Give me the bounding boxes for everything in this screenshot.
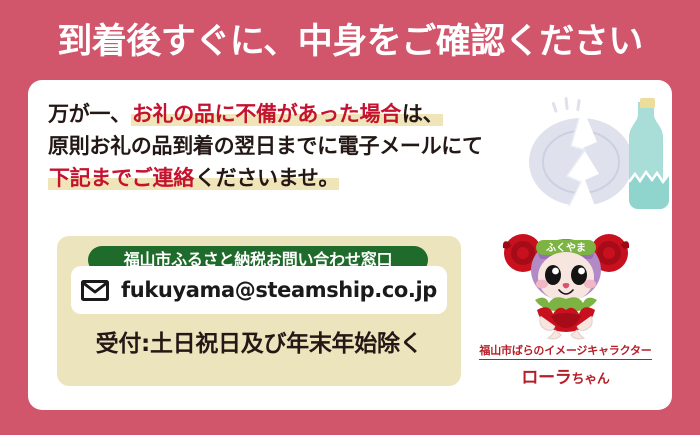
mascot-name-main: ローラ (521, 368, 571, 388)
notice-line-3: 下記までご連絡くださいませ。 (48, 162, 518, 194)
contact-email[interactable]: fukuyama@steamship.co.jp (121, 278, 437, 302)
contact-box: 福山市ふるさと納税お問い合わせ窓口 fukuyama@steamship.co.… (57, 236, 461, 386)
email-panel[interactable]: fukuyama@steamship.co.jp (71, 266, 447, 314)
mascot-caption-title: 福山市ばらのイメージキャラクター (473, 342, 658, 358)
notice-line-1-highlight: お礼の品に不備があった場合 (131, 102, 402, 126)
mascot-name-suffix: ちゃん (572, 372, 610, 387)
rola-chan-mascot-icon: ふくやま (501, 220, 631, 342)
notice-banner: 到着後すぐに、中身をご確認ください 万が一、お礼の品に不備があった場合は、 原則… (0, 0, 700, 435)
reception-hours: 受付:土日祝日及び年末年始除く (57, 324, 461, 358)
notice-line-1-suffix: は、 (402, 102, 443, 126)
notice-line-1-prefix: 万が一、 (48, 102, 131, 126)
mascot-name: ローラちゃん (473, 363, 658, 388)
cracked-plate-icon (529, 118, 633, 206)
notice-text-block: 万が一、お礼の品に不備があった場合は、 原則お礼の品到着の翌日までに電子メールに… (48, 98, 518, 194)
notice-line-1: 万が一、お礼の品に不備があった場合は、 (48, 98, 518, 130)
crack-spark-icon (552, 97, 581, 113)
mascot-block: ふくやま (473, 220, 658, 395)
notice-line-2-text: 原則お礼の品到着の翌日までに電子メールにて (48, 134, 483, 158)
page-title: 到着後すぐに、中身をご確認ください (0, 20, 700, 64)
notice-line-3-suffix: くださいませ。 (195, 166, 339, 190)
mascot-caption-divider (479, 359, 652, 360)
content-card: 万が一、お礼の品に不備があった場合は、 原則お礼の品到着の翌日までに電子メールに… (28, 80, 672, 410)
envelope-icon (81, 280, 109, 301)
broken-items-illustration (523, 90, 688, 215)
notice-line-3-highlight: 下記までご連絡 (48, 166, 195, 190)
notice-line-2: 原則お礼の品到着の翌日までに電子メールにて (48, 130, 518, 162)
broken-bottle-icon (629, 98, 669, 209)
